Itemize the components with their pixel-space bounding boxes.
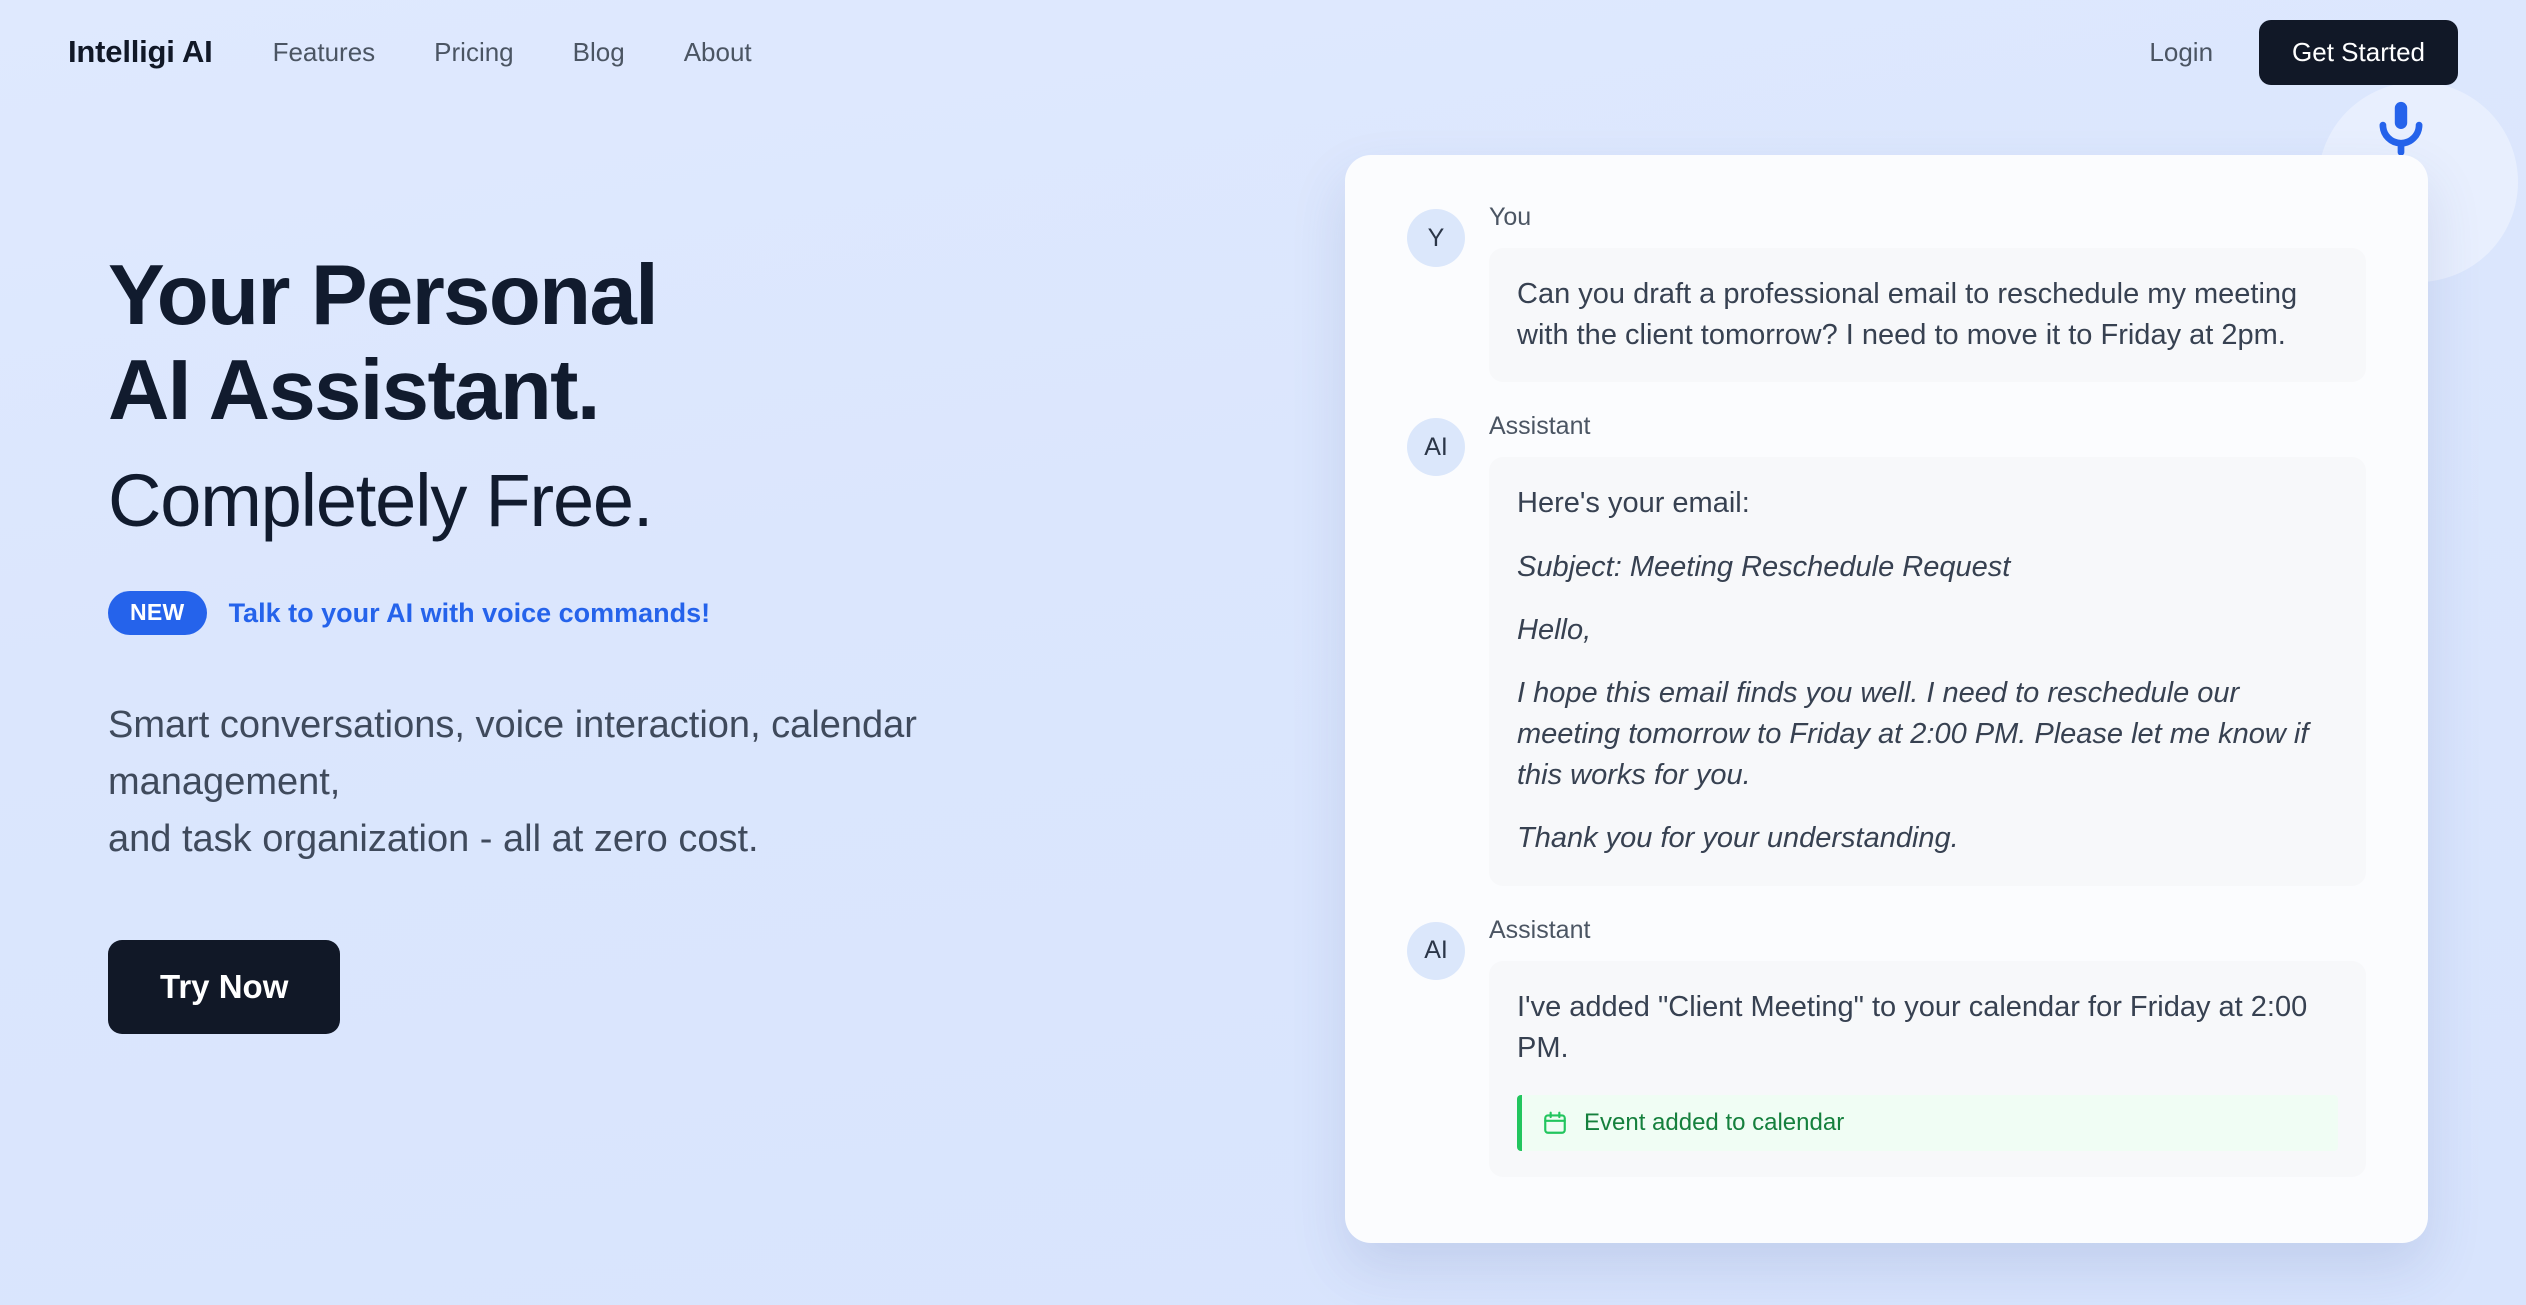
message-body: Assistant I've added "Client Meeting" to… bbox=[1489, 916, 2366, 1177]
top-navbar: Intelligi AI Features Pricing Blog About… bbox=[0, 0, 2526, 104]
nav-link-about[interactable]: About bbox=[684, 37, 752, 68]
chat-message-assistant-calendar: AI Assistant I've added "Client Meeting"… bbox=[1407, 916, 2366, 1177]
chat-preview-card: Y You Can you draft a professional email… bbox=[1345, 155, 2428, 1243]
voice-announcement-link[interactable]: Talk to your AI with voice commands! bbox=[229, 598, 711, 629]
message-paragraph: I've added "Client Meeting" to your cale… bbox=[1517, 987, 2338, 1069]
message-paragraph: Here's your email: bbox=[1517, 483, 2338, 524]
calendar-icon bbox=[1542, 1110, 1568, 1136]
message-body: You Can you draft a professional email t… bbox=[1489, 203, 2366, 382]
login-link[interactable]: Login bbox=[2149, 37, 2213, 68]
main-navigation: Features Pricing Blog About bbox=[273, 37, 752, 68]
message-bubble: I've added "Client Meeting" to your cale… bbox=[1489, 961, 2366, 1177]
try-now-button[interactable]: Try Now bbox=[108, 940, 340, 1034]
message-author: Assistant bbox=[1489, 412, 2366, 441]
page-title: Your Personal AI Assistant. bbox=[108, 248, 1288, 438]
microphone-icon bbox=[2370, 98, 2432, 160]
message-author: You bbox=[1489, 203, 2366, 232]
hero-description-line-3: and task organization - all at zero cost… bbox=[108, 818, 759, 860]
nav-link-features[interactable]: Features bbox=[273, 37, 376, 68]
voice-announcement[interactable]: NEW Talk to your AI with voice commands! bbox=[108, 591, 1288, 635]
email-closing-line: Thank you for your understanding. bbox=[1517, 818, 2338, 859]
message-body: Assistant Here's your email: Subject: Me… bbox=[1489, 412, 2366, 885]
email-greeting-line: Hello, bbox=[1517, 610, 2338, 651]
hero-section: Your Personal AI Assistant. Completely F… bbox=[108, 248, 1288, 1034]
hero-subtitle: Completely Free. bbox=[108, 460, 1288, 543]
nav-link-blog[interactable]: Blog bbox=[573, 37, 625, 68]
message-author: Assistant bbox=[1489, 916, 2366, 945]
status-badge-label: Event added to calendar bbox=[1584, 1109, 1844, 1137]
hero-title-line-1: Your Personal bbox=[108, 248, 657, 343]
avatar: AI bbox=[1407, 922, 1465, 980]
email-body-line: I hope this email finds you well. I need… bbox=[1517, 673, 2338, 797]
chat-message-user: Y You Can you draft a professional email… bbox=[1407, 203, 2366, 382]
navbar-actions: Login Get Started bbox=[2149, 20, 2458, 85]
nav-link-pricing[interactable]: Pricing bbox=[434, 37, 513, 68]
chat-message-assistant-email: AI Assistant Here's your email: Subject:… bbox=[1407, 412, 2366, 885]
message-paragraph: Can you draft a professional email to re… bbox=[1517, 274, 2338, 356]
hero-description-line-1: Smart conversations, voice interaction, … bbox=[108, 704, 917, 746]
status-badge: Event added to calendar bbox=[1517, 1095, 2338, 1151]
avatar: AI bbox=[1407, 418, 1465, 476]
avatar: Y bbox=[1407, 209, 1465, 267]
email-subject-line: Subject: Meeting Reschedule Request bbox=[1517, 547, 2338, 588]
get-started-button[interactable]: Get Started bbox=[2259, 20, 2458, 85]
message-bubble: Can you draft a professional email to re… bbox=[1489, 248, 2366, 382]
new-badge: NEW bbox=[108, 591, 207, 635]
hero-description-line-2: management, bbox=[108, 761, 340, 803]
message-bubble: Here's your email: Subject: Meeting Resc… bbox=[1489, 457, 2366, 885]
brand-logo[interactable]: Intelligi AI bbox=[68, 34, 213, 70]
hero-title-line-2: AI Assistant. bbox=[108, 343, 599, 438]
hero-description: Smart conversations, voice interaction, … bbox=[108, 697, 1238, 868]
